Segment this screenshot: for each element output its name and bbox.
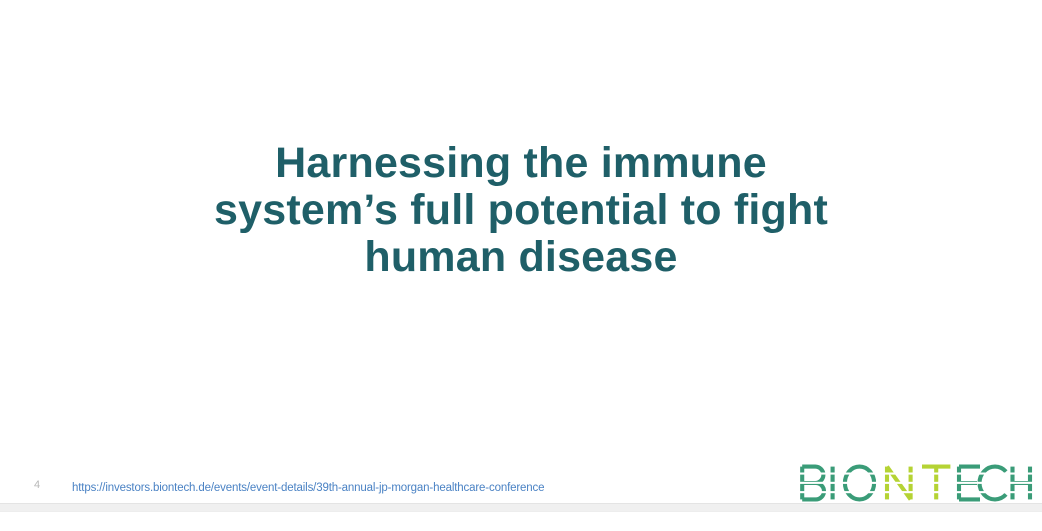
page-number: 4 bbox=[28, 478, 46, 492]
headline-line-2: system’s full potential to fight bbox=[0, 187, 1042, 234]
headline-line-3: human disease bbox=[0, 234, 1042, 281]
player-progress-bar[interactable] bbox=[0, 503, 1042, 512]
slide-headline: Harnessing the immune system’s full pote… bbox=[0, 140, 1042, 281]
biontech-logo bbox=[799, 464, 1033, 502]
headline-line-1: Harnessing the immune bbox=[0, 140, 1042, 187]
presentation-slide: Harnessing the immune system’s full pote… bbox=[0, 0, 1042, 503]
source-url-link[interactable]: https://investors.biontech.de/events/eve… bbox=[72, 481, 544, 495]
slide-viewer: Harnessing the immune system’s full pote… bbox=[0, 0, 1042, 531]
player-chrome bbox=[0, 503, 1042, 531]
biontech-logo-icon bbox=[799, 464, 1033, 502]
